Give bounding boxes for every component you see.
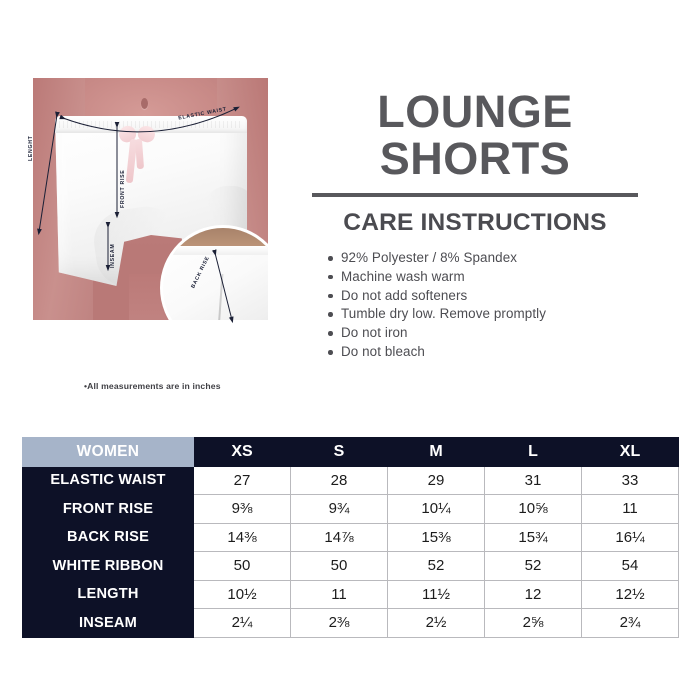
size-chart-table: WOMEN XS S M L XL ELASTIC WAIST 27 28 29… — [22, 437, 679, 638]
cell-front-rise-l: 10⅝ — [485, 495, 582, 524]
headline-block: LOUNGE SHORTS CARE INSTRUCTIONS 92% Poly… — [310, 88, 640, 362]
care-instructions-list: 92% Polyester / 8% Spandex Machine wash … — [310, 249, 640, 362]
cell-front-rise-xs: 9⅜ — [194, 495, 291, 524]
table-row: ELASTIC WAIST 27 28 29 31 33 — [23, 466, 679, 495]
cell-front-rise-s: 9¾ — [291, 495, 388, 524]
inset-waistband — [163, 246, 268, 255]
inset-shorts-back — [163, 246, 268, 320]
table-row: INSEAM 2¼ 2⅜ 2½ 2⅝ 2¾ — [23, 609, 679, 638]
cell-front-rise-xl: 11 — [582, 495, 679, 524]
cell-back-rise-xl: 16¼ — [582, 523, 679, 552]
list-item: Do not bleach — [328, 343, 640, 362]
cell-length-xl: 12½ — [582, 580, 679, 609]
measurements-footnote: •All measurements are in inches — [84, 381, 221, 391]
column-header-women: WOMEN — [23, 438, 194, 467]
cell-inseam-xl: 2¾ — [582, 609, 679, 638]
row-label-inseam: INSEAM — [23, 609, 194, 638]
column-header-s: S — [291, 438, 388, 467]
cell-elastic-waist-m: 29 — [388, 466, 485, 495]
row-label-back-rise: BACK RISE — [23, 523, 194, 552]
label-length: LENGHT — [28, 135, 34, 161]
cell-length-s: 11 — [291, 580, 388, 609]
title-divider — [312, 193, 638, 197]
cell-inseam-l: 2⅝ — [485, 609, 582, 638]
column-header-m: M — [388, 438, 485, 467]
column-header-xs: XS — [194, 438, 291, 467]
table-row: FRONT RISE 9⅜ 9¾ 10¼ 10⅝ 11 — [23, 495, 679, 524]
table-row: WHITE RIBBON 50 50 52 52 54 — [23, 552, 679, 581]
cell-inseam-m: 2½ — [388, 609, 485, 638]
label-inseam: INSEAM — [110, 244, 116, 268]
model-navel — [141, 98, 148, 109]
cell-front-rise-m: 10¼ — [388, 495, 485, 524]
cell-length-m: 11½ — [388, 580, 485, 609]
bow-tail-right — [135, 139, 144, 169]
cell-back-rise-xs: 14⅜ — [194, 523, 291, 552]
cell-white-ribbon-xl: 54 — [582, 552, 679, 581]
cell-elastic-waist-l: 31 — [485, 466, 582, 495]
size-chart: WOMEN XS S M L XL ELASTIC WAIST 27 28 29… — [22, 437, 678, 638]
cell-inseam-s: 2⅜ — [291, 609, 388, 638]
row-label-front-rise: FRONT RISE — [23, 495, 194, 524]
column-header-xl: XL — [582, 438, 679, 467]
top-section: ELASTIC WAIST LENGHT FRONT RISE INSEAM B… — [0, 0, 700, 425]
column-header-l: L — [485, 438, 582, 467]
page-title-line2: SHORTS — [310, 135, 640, 182]
list-item: Do not iron — [328, 324, 640, 343]
size-guide-page: ELASTIC WAIST LENGHT FRONT RISE INSEAM B… — [0, 0, 700, 700]
table-header-row: WOMEN XS S M L XL — [23, 438, 679, 467]
cell-back-rise-s: 14⅞ — [291, 523, 388, 552]
row-label-white-ribbon: WHITE RIBBON — [23, 552, 194, 581]
product-photo — [33, 78, 268, 320]
cell-white-ribbon-m: 52 — [388, 552, 485, 581]
table-row: LENGTH 10½ 11 11½ 12 12½ — [23, 580, 679, 609]
cell-elastic-waist-xl: 33 — [582, 466, 679, 495]
care-instructions-heading: CARE INSTRUCTIONS — [310, 209, 640, 237]
cell-length-l: 12 — [485, 580, 582, 609]
list-item: Machine wash warm — [328, 268, 640, 287]
cell-inseam-xs: 2¼ — [194, 609, 291, 638]
cell-back-rise-m: 15⅜ — [388, 523, 485, 552]
row-label-elastic-waist: ELASTIC WAIST — [23, 466, 194, 495]
list-item: Do not add softeners — [328, 287, 640, 306]
cell-length-xs: 10½ — [194, 580, 291, 609]
cell-elastic-waist-xs: 27 — [194, 466, 291, 495]
back-rise-inset-photo — [163, 228, 268, 320]
cell-white-ribbon-l: 52 — [485, 552, 582, 581]
cell-back-rise-l: 15¾ — [485, 523, 582, 552]
table-row: BACK RISE 14⅜ 14⅞ 15⅜ 15¾ 16¼ — [23, 523, 679, 552]
list-item: Tumble dry low. Remove promptly — [328, 305, 640, 324]
row-label-length: LENGTH — [23, 580, 194, 609]
list-item: 92% Polyester / 8% Spandex — [328, 249, 640, 268]
cell-white-ribbon-xs: 50 — [194, 552, 291, 581]
cell-elastic-waist-s: 28 — [291, 466, 388, 495]
label-front-rise: FRONT RISE — [120, 170, 126, 208]
cell-white-ribbon-s: 50 — [291, 552, 388, 581]
page-title-line1: LOUNGE — [310, 88, 640, 135]
